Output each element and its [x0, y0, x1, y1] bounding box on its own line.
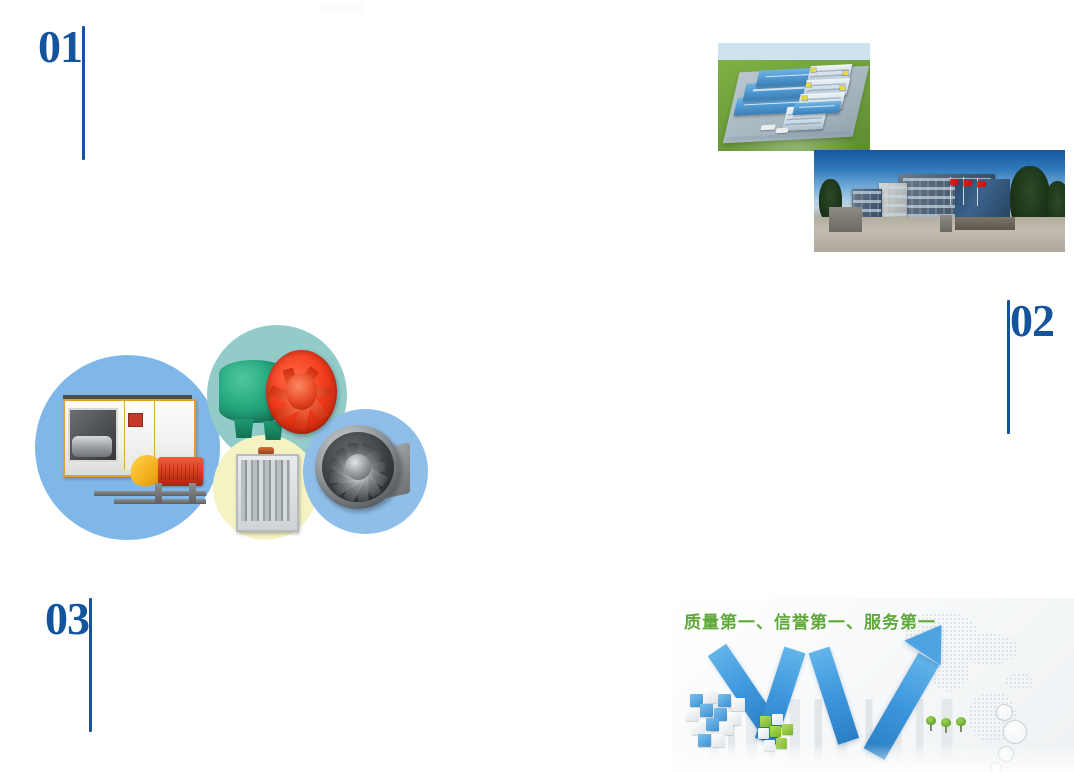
boxfan-base-rail	[189, 483, 196, 504]
axialfan-foot	[234, 419, 254, 438]
factory-marker-dot	[806, 83, 811, 87]
green-cube-block	[770, 726, 781, 737]
green-cube-block	[782, 724, 793, 735]
office-building-photo	[814, 150, 1065, 252]
product-cabinet-box-fan	[53, 387, 223, 517]
red-flag-icon	[977, 181, 986, 188]
boxfan-motor	[158, 457, 202, 486]
section-number-03: 03	[45, 598, 89, 640]
faint-artifact	[318, 3, 364, 13]
red-flag-icon	[963, 180, 972, 187]
silverfan-inner-ring	[322, 432, 394, 502]
bubble-decoration	[996, 704, 1013, 721]
section-rule-01	[82, 26, 85, 160]
axialfan-hub	[286, 373, 317, 410]
growth-arrow-banner: 质量第一、信誉第一、服务第一	[672, 598, 1074, 772]
silverfan-shroud	[315, 425, 400, 509]
section-number-02: 02	[1010, 300, 1054, 342]
product-collage	[35, 325, 425, 545]
tree-icon	[926, 716, 936, 732]
boxfan-control-box	[128, 413, 144, 427]
boxfan-impeller	[72, 436, 113, 457]
section-marker-01: 01	[38, 26, 93, 160]
section-marker-02: 02	[1005, 300, 1054, 434]
factory-marker-dot	[802, 96, 807, 100]
tree-trunk	[960, 725, 962, 732]
tree-icon	[941, 718, 951, 734]
green-cube-block	[758, 728, 769, 739]
silverfan-hub	[345, 454, 371, 479]
page-root: 01	[0, 0, 1074, 772]
tree-icon	[956, 717, 966, 733]
red-flag-icon	[950, 179, 959, 186]
damper-blades	[241, 460, 290, 520]
office-gate-post	[940, 215, 953, 231]
section-number-01: 01	[38, 26, 82, 68]
cube-block	[706, 718, 719, 731]
cube-block	[732, 698, 745, 711]
office-wall	[955, 217, 1015, 229]
product-air-damper	[233, 447, 299, 531]
banner-reflection	[672, 744, 1074, 772]
slogan-text: 质量第一、信誉第一、服务第一	[684, 608, 936, 633]
section-marker-03: 03	[45, 598, 100, 732]
cube-block	[718, 694, 731, 707]
boxfan-base-rail	[155, 483, 162, 504]
cube-block	[686, 708, 699, 721]
tree-trunk	[945, 726, 947, 733]
cube-block	[704, 690, 717, 703]
factory-marker-dot	[843, 71, 848, 75]
bubble-decoration	[1003, 720, 1027, 744]
product-silver-axial-fan	[313, 419, 417, 521]
office-gatehouse	[829, 207, 862, 231]
factory-marker-dot	[840, 86, 845, 90]
factory-marker-dot	[811, 68, 816, 72]
section-rule-03	[89, 598, 92, 732]
tree-trunk	[930, 724, 932, 731]
cube-block	[700, 704, 713, 717]
factory-render-image	[718, 43, 870, 151]
